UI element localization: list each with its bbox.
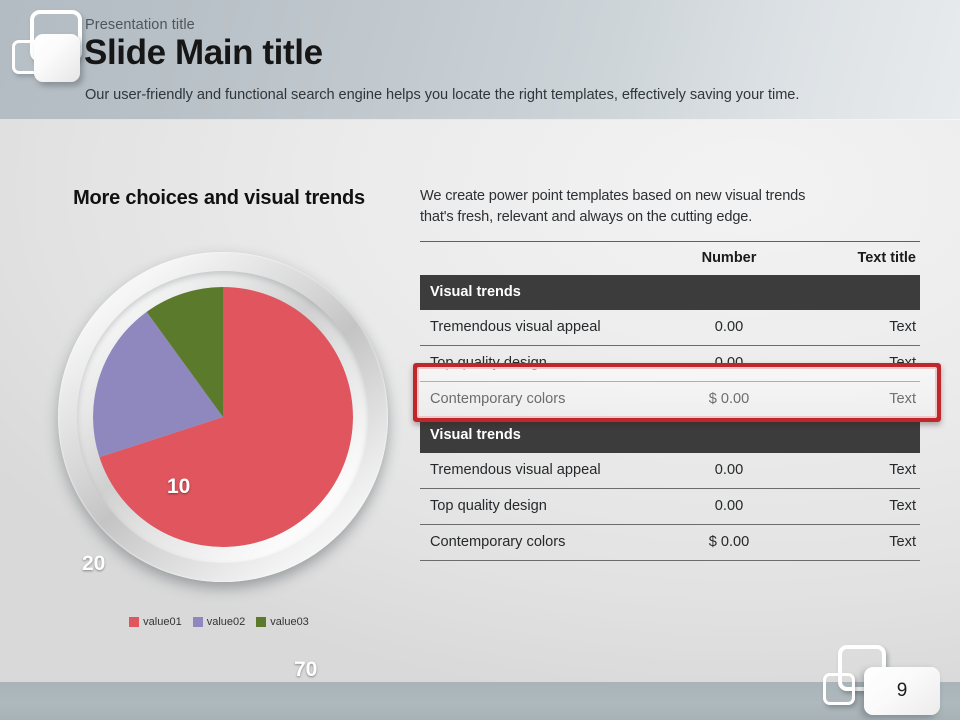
table-head: Number Text title [420, 242, 920, 276]
page-title: Slide Main title [84, 33, 323, 73]
legend-item-value03: value03 [256, 616, 309, 628]
slide-subtitle: Our user-friendly and functional search … [85, 87, 799, 103]
row-number: $ 0.00 [670, 382, 810, 418]
pie-slices-svg [93, 287, 353, 547]
row-number: 0.00 [670, 453, 810, 489]
table-section-header-label: Visual trends [420, 418, 920, 454]
row-text: Text [810, 453, 920, 489]
table-row[interactable]: Tremendous visual appeal0.00Text [420, 453, 920, 489]
table-row[interactable]: Tremendous visual appeal0.00Text [420, 310, 920, 346]
table-row[interactable]: Contemporary colors$ 0.00Text [420, 382, 920, 418]
chart-legend: value01 value02 value03 [24, 616, 414, 628]
chart-title: More choices and visual trends [24, 186, 414, 212]
pie-label-value02: 20 [82, 552, 105, 576]
row-label: Tremendous visual appeal [420, 310, 670, 346]
slide-number: 9 [897, 680, 908, 702]
row-text: Text [810, 346, 920, 382]
presentation-title: Presentation title [85, 17, 195, 33]
legend-swatch-value03 [256, 617, 266, 627]
legend-item-value01: value01 [129, 616, 182, 628]
row-text: Text [810, 382, 920, 418]
row-number: 0.00 [670, 346, 810, 382]
row-label: Top quality design [420, 346, 670, 382]
table-row[interactable]: Contemporary colors$ 0.00Text [420, 525, 920, 561]
table-body: Visual trendsTremendous visual appeal0.0… [420, 275, 920, 561]
footer-logo-square-small [823, 673, 855, 705]
pie-chart-block: More choices and visual trends 70 20 10 … [24, 186, 414, 636]
row-number: 0.00 [670, 489, 810, 525]
logo-square-solid [34, 34, 80, 82]
column-header-number: Number [670, 242, 810, 276]
table-header-row: Number Text title [420, 242, 920, 276]
pie-label-value03: 10 [167, 475, 190, 499]
column-header-name [420, 242, 670, 276]
intro-paragraph: We create power point templates based on… [420, 186, 840, 227]
table-section-header-label: Visual trends [420, 275, 920, 310]
header-band: Presentation title Slide Main title Our … [0, 0, 960, 120]
legend-label-value03: value03 [270, 616, 309, 628]
row-label: Top quality design [420, 489, 670, 525]
slide-number-badge: 9 [864, 667, 940, 715]
column-header-text-title: Text title [810, 242, 920, 276]
table-section-header: Visual trends [420, 418, 920, 454]
pie-label-value01: 70 [294, 658, 317, 682]
table-row[interactable]: Top quality design0.00Text [420, 489, 920, 525]
row-label: Contemporary colors [420, 525, 670, 561]
legend-swatch-value01 [129, 617, 139, 627]
table-row[interactable]: Top quality design0.00Text [420, 346, 920, 382]
pie-chart [58, 252, 388, 582]
legend-label-value02: value02 [207, 616, 246, 628]
row-number: $ 0.00 [670, 525, 810, 561]
legend-label-value01: value01 [143, 616, 182, 628]
row-text: Text [810, 525, 920, 561]
content-column: We create power point templates based on… [420, 186, 920, 561]
row-label: Tremendous visual appeal [420, 453, 670, 489]
row-number: 0.00 [670, 310, 810, 346]
legend-item-value02: value02 [193, 616, 246, 628]
row-text: Text [810, 310, 920, 346]
legend-swatch-value02 [193, 617, 203, 627]
row-text: Text [810, 489, 920, 525]
table-section-header: Visual trends [420, 275, 920, 310]
slide: Presentation title Slide Main title Our … [0, 0, 960, 720]
header-logo-icon [4, 8, 86, 86]
row-label: Contemporary colors [420, 382, 670, 418]
pie-face [93, 287, 353, 547]
data-table: Number Text title Visual trendsTremendou… [420, 241, 920, 561]
footer-band [0, 682, 960, 720]
